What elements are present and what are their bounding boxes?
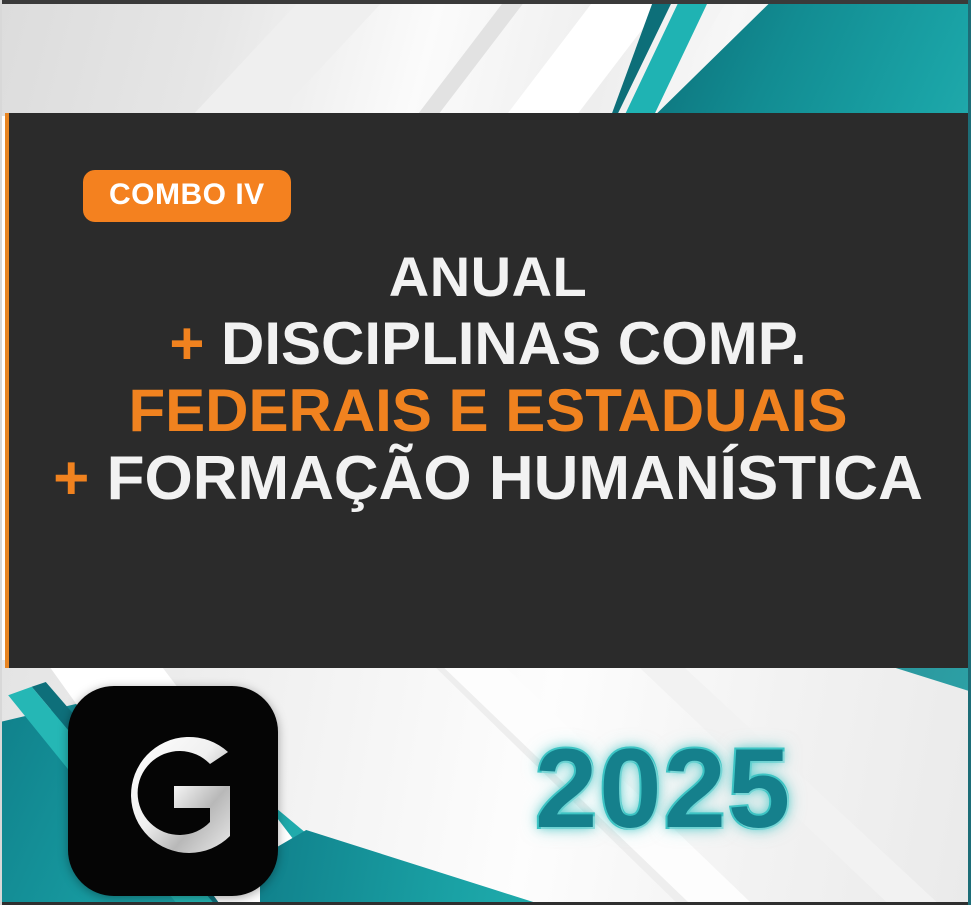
- headline-line-federais: FEDERAIS E ESTADUAIS: [5, 380, 971, 441]
- combo-badge: COMBO IV: [83, 170, 291, 222]
- plus-sign-2: +: [53, 444, 89, 513]
- headline-line-formacao-text: FORMAÇÃO HUMANÍSTICA: [107, 444, 923, 513]
- g-logo-icon: [68, 686, 278, 896]
- year-label: 2025: [535, 733, 792, 845]
- promotional-poster: COMBO IV ANUAL + DISCIPLINAS COMP. FEDER…: [0, 0, 971, 905]
- headline-line-disciplinas-text: DISCIPLINAS COMP.: [221, 310, 807, 377]
- headline-block: ANUAL + DISCIPLINAS COMP. FEDERAIS E EST…: [5, 248, 971, 511]
- headline-line-anual: ANUAL: [5, 248, 971, 305]
- headline-line-formacao: + FORMAÇÃO HUMANÍSTICA: [5, 447, 971, 510]
- border-top: [0, 0, 971, 4]
- headline-line-disciplinas: + DISCIPLINAS COMP.: [5, 313, 971, 374]
- plus-sign-1: +: [169, 310, 204, 377]
- brand-logo: [68, 686, 278, 896]
- border-left: [0, 0, 2, 905]
